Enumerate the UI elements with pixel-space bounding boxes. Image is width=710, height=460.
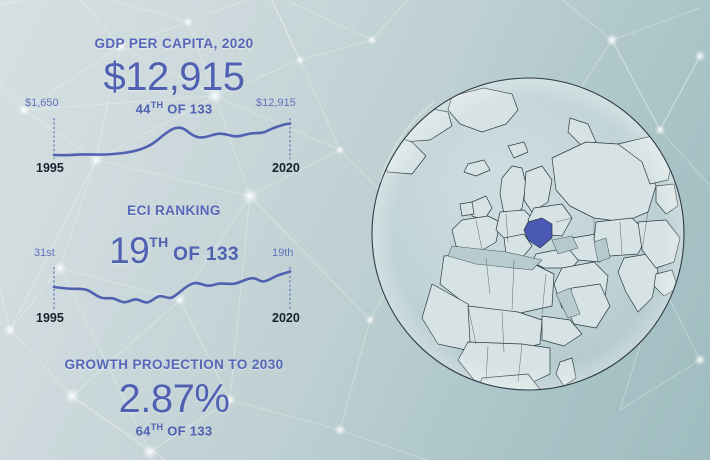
growth-rank: 64TH OF 133 xyxy=(0,422,348,438)
stat-block-growth-projection: GROWTH PROJECTION TO 2030 2.87% 64TH OF … xyxy=(0,357,348,438)
eci-start-endpoint-label: 31st xyxy=(34,247,55,259)
gdp-end-endpoint-label: $12,915 xyxy=(256,97,296,109)
eci-sparkline-svg xyxy=(22,263,322,313)
eci-start-year-label: 1995 xyxy=(36,311,64,325)
gdp-start-endpoint-label: $1,650 xyxy=(25,97,59,109)
stats-column: GDP PER CAPITA, 2020 $12,915 44TH OF 133… xyxy=(0,0,348,460)
eci-title: ECI RANKING xyxy=(0,203,348,218)
gdp-start-year-label: 1995 xyxy=(36,161,64,175)
gdp-sparkline-chart: $1,650 $12,915 1995 2020 xyxy=(22,113,322,163)
eci-sparkline-chart: 31st 19th 1995 2020 xyxy=(22,263,322,313)
growth-rank-ordinal: TH xyxy=(151,422,164,432)
gdp-title: GDP PER CAPITA, 2020 xyxy=(0,36,348,51)
infographic-root: GDP PER CAPITA, 2020 $12,915 44TH OF 133… xyxy=(0,0,710,460)
eci-end-year-label: 2020 xyxy=(272,311,300,325)
growth-title: GROWTH PROJECTION TO 2030 xyxy=(0,357,348,372)
stat-block-eci-ranking: ECI RANKING 19TH OF 133 xyxy=(0,203,348,269)
gdp-end-year-label: 2020 xyxy=(272,161,300,175)
eci-line-path xyxy=(54,271,290,302)
gdp-line-path xyxy=(54,124,290,156)
gdp-sparkline-svg xyxy=(22,113,322,163)
growth-rank-number: 64 xyxy=(136,423,151,438)
eci-rank-ordinal: TH xyxy=(149,234,168,250)
eci-end-endpoint-label: 19th xyxy=(272,247,293,259)
gdp-rank-ordinal: TH xyxy=(151,100,164,110)
world-globe xyxy=(356,62,700,406)
eci-rank-of: OF 133 xyxy=(173,244,239,265)
globe-limb-shading xyxy=(372,78,684,390)
growth-rank-of: OF 133 xyxy=(167,423,212,438)
gdp-value: $12,915 xyxy=(0,56,348,98)
growth-value: 2.87% xyxy=(0,378,348,420)
